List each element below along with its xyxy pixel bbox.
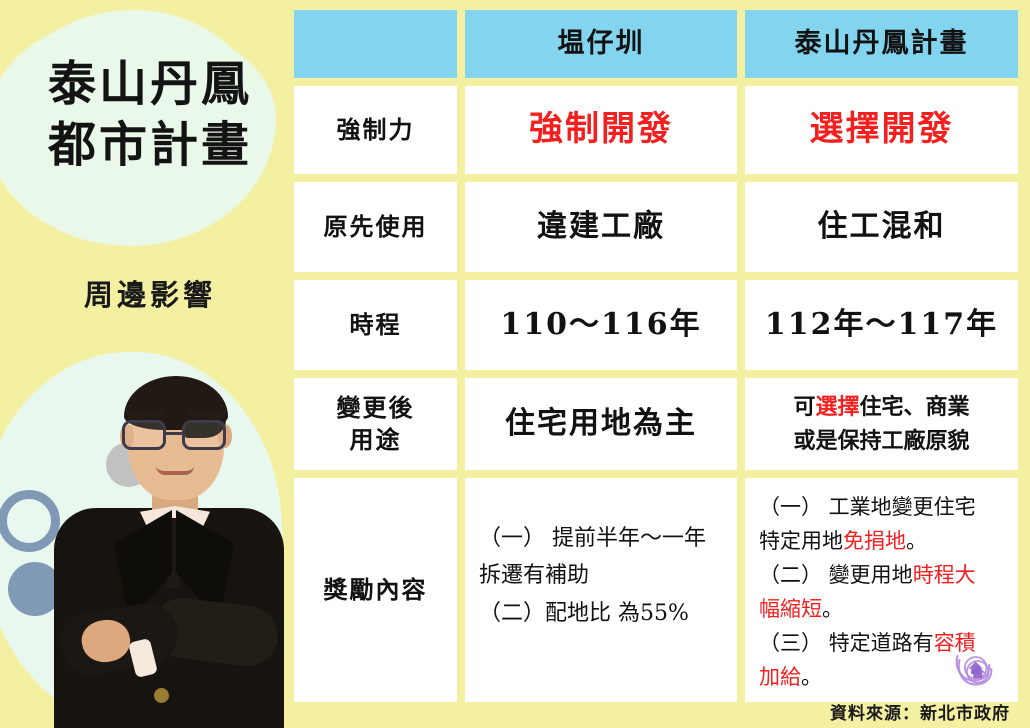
cell-incentives-yunzai: （一） 提前半年～一年拆遷有補助（二）配地比 為55% (465, 478, 737, 702)
plain-text: 可 (793, 394, 815, 420)
highlighted-text: 時程大 (913, 563, 976, 587)
left-panel: 泰山丹鳳 都市計畫 周邊影響 (0, 0, 300, 728)
plain-text: 。 (801, 665, 822, 689)
row-label-compulsion: 強制力 (294, 86, 457, 174)
house-logo-icon (954, 652, 996, 688)
plain-text: 。 (822, 597, 843, 621)
cell-post-change-use-yunzai: 住宅用地為主 (465, 378, 737, 470)
text-line: 或是保持工廠原貌 (793, 424, 969, 458)
cell-original-use-yunzai: 違建工廠 (465, 182, 737, 272)
slide-canvas: 泰山丹鳳 都市計畫 周邊影響 (0, 0, 1030, 728)
cell-post-change-use-danfeng: 可選擇住宅、商業或是保持工廠原貌 (745, 378, 1018, 470)
page-title: 泰山丹鳳 都市計畫 (12, 54, 288, 177)
plain-text: （二）配地比 為55% (479, 601, 689, 626)
row-label-incentives: 獎勵內容 (294, 478, 457, 702)
table-header-col-taishan-danfeng: 泰山丹鳳計畫 (745, 10, 1018, 78)
plain-text: （三） 特定道路有 (759, 631, 934, 655)
cell-compulsion-yunzai: 強制開發 (465, 86, 737, 174)
highlighted-text: 幅縮短 (759, 597, 822, 621)
cell-schedule-yunzai: 110～116年 (465, 280, 737, 370)
text-line: 拆遷有補助 (479, 557, 589, 594)
plain-text: 。 (906, 529, 927, 553)
text-line: （一） 提前半年～一年 (479, 520, 706, 557)
plain-text: 或是保持工廠原貌 (793, 428, 969, 454)
text-line: 幅縮短。 (759, 592, 843, 626)
plain-text: （一） 提前半年～一年 (479, 526, 706, 551)
plain-text: 特定用地 (759, 529, 843, 553)
text-line: 可選擇住宅、商業 (793, 390, 969, 424)
row-label-original-use: 原先使用 (294, 182, 457, 272)
text-line: （二）配地比 為55% (479, 595, 689, 632)
page-subtitle: 周邊影響 (12, 272, 288, 314)
highlighted-text: 免捐地 (843, 529, 906, 553)
cell-schedule-danfeng: 112年～117年 (745, 280, 1018, 370)
comparison-table: 塭仔圳 泰山丹鳳計畫 強制力 強制開發 選擇開發 原先使用 違建工廠 住工混和 … (294, 10, 1010, 694)
source-credit: 資料來源：新北市政府 (830, 699, 1010, 724)
text-line: （二） 變更用地時程大 (759, 558, 976, 592)
plain-text: （二） 變更用地 (759, 563, 913, 587)
plain-text: 住宅、商業 (860, 394, 970, 420)
row-label-post-change-use: 變更後 用途 (294, 378, 457, 470)
text-line: 特定用地免捐地。 (759, 524, 927, 558)
table-header-corner (294, 10, 457, 78)
highlighted-text: 選擇 (815, 394, 859, 420)
table-header-col-yunzai: 塭仔圳 (465, 10, 737, 78)
text-line: （三） 特定道路有容積 (759, 626, 976, 660)
text-line: 加給。 (759, 660, 822, 694)
text-line: （一） 工業地變更住宅 (759, 490, 976, 524)
cell-incentives-danfeng: （一） 工業地變更住宅特定用地免捐地。（二） 變更用地時程大幅縮短。（三） 特定… (745, 478, 1018, 702)
plain-text: （一） 工業地變更住宅 (759, 495, 976, 519)
presenter-portrait-photo (48, 358, 288, 728)
cell-compulsion-danfeng: 選擇開發 (745, 86, 1018, 174)
row-label-schedule: 時程 (294, 280, 457, 370)
eyeglasses-icon (122, 420, 232, 450)
highlighted-text: 加給 (759, 665, 801, 689)
cell-original-use-danfeng: 住工混和 (745, 182, 1018, 272)
plain-text: 拆遷有補助 (479, 563, 589, 588)
